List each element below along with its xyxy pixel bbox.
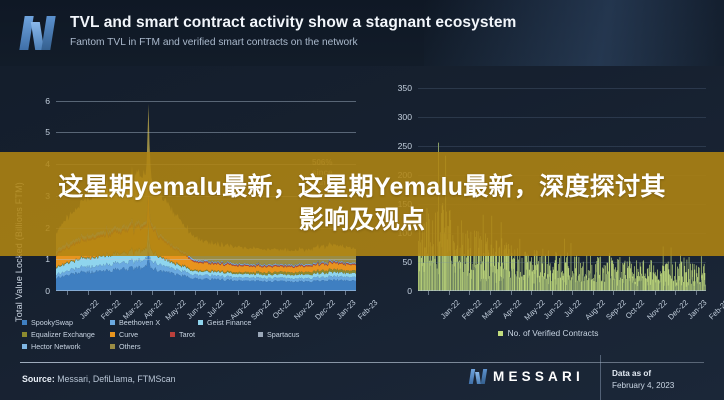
legend-item[interactable]: Hector Network (22, 342, 110, 351)
legend-item-label: No. of Verified Contracts (508, 328, 599, 338)
gridline (56, 132, 356, 133)
brand-wordmark: MESSARI (493, 369, 584, 384)
x-axis-tick-label: Mar-22 (480, 298, 503, 321)
legend-swatch (258, 332, 263, 337)
legend-swatch (22, 344, 27, 349)
x-axis-left (56, 290, 356, 291)
infographic-root: TVL and smart contract activity show a s… (0, 0, 724, 400)
legend-swatch (498, 331, 503, 336)
x-axis-tick-mark (281, 291, 282, 295)
legend-item[interactable]: Others (110, 342, 198, 351)
x-axis-tick-mark (110, 291, 111, 295)
y-axis-tick-label: 6 (45, 96, 50, 106)
legend-item[interactable]: Curve (110, 330, 170, 339)
x-axis-tick-mark (88, 291, 89, 295)
x-axis-right (418, 290, 706, 291)
page-title: TVL and smart contract activity show a s… (70, 14, 516, 32)
x-axis-tick-label: Jun-22 (542, 298, 565, 321)
data-as-of-value: February 4, 2023 (612, 380, 674, 392)
y-axis-tick-label: 5 (45, 127, 50, 137)
x-axis-tick-mark (531, 291, 532, 295)
x-axis-tick-mark (174, 291, 175, 295)
legend-item[interactable]: Tarot (170, 330, 258, 339)
x-axis-tick-label: May-22 (522, 298, 546, 322)
legend-swatch (170, 332, 175, 337)
y-axis-tick-label: 50 (402, 257, 412, 267)
x-axis-tick-mark (511, 291, 512, 295)
page-subtitle: Fantom TVL in FTM and verified smart con… (70, 37, 516, 48)
legend-swatch (22, 320, 27, 325)
y-axis-tick-label: 0 (407, 286, 412, 296)
x-axis-tick-label: Jan-23 (686, 298, 709, 321)
legend-left: SpookySwapBeethoven XGeist FinanceEquali… (22, 318, 362, 351)
messari-logo-icon (470, 369, 486, 384)
x-axis-tick-mark (613, 291, 614, 295)
chart-header: TVL and smart contract activity show a s… (0, 0, 724, 66)
x-axis-tick-label: Apr-22 (501, 298, 523, 320)
y-axis-tick-label: 300 (398, 112, 412, 122)
x-axis-tick-mark (302, 291, 303, 295)
legend-item[interactable]: Beethoven X (110, 318, 198, 327)
source-note: Source: Messari, DefiLlama, FTMScan (22, 374, 176, 384)
x-axis-tick-label: Sep-22 (604, 298, 628, 322)
gridline (418, 262, 706, 263)
legend-item-label: Others (119, 342, 141, 351)
x-axis-tick-mark (552, 291, 553, 295)
gridline (56, 101, 356, 102)
legend-swatch (198, 320, 203, 325)
source-label: Source: (22, 374, 55, 384)
x-axis-tick-label: Oct-22 (624, 298, 646, 320)
legend-item[interactable]: SpookySwap (22, 318, 110, 327)
x-axis-tick-label: Aug-22 (583, 298, 607, 322)
title-block: TVL and smart contract activity show a s… (70, 14, 516, 48)
gridline (56, 259, 356, 260)
data-as-of-label: Data as of (612, 368, 674, 380)
legend-item[interactable]: Spartacus (258, 330, 346, 339)
gridline (418, 117, 706, 118)
gridline (418, 146, 706, 147)
y-axis-tick-label: 250 (398, 141, 412, 151)
x-axis-tick-label: Jul-22 (205, 298, 226, 319)
x-axis-tick-mark (593, 291, 594, 295)
source-value: Messari, DefiLlama, FTMScan (55, 374, 176, 384)
legend-swatch (110, 344, 115, 349)
x-axis-tick-mark (217, 291, 218, 295)
x-axis-tick-mark (655, 291, 656, 295)
x-axis-tick-mark (572, 291, 573, 295)
y-axis-tick-label: 0 (45, 286, 50, 296)
legend-item-label: SpookySwap (31, 318, 73, 327)
legend-item[interactable]: Geist Finance (198, 318, 286, 327)
legend-item-label: Hector Network (31, 342, 81, 351)
legend-item[interactable]: Equalizer Exchange (22, 330, 110, 339)
messari-logo-icon (22, 16, 53, 50)
x-axis-tick-mark (469, 291, 470, 295)
x-axis-tick-mark (449, 291, 450, 295)
y-axis-tick-label: 350 (398, 83, 412, 93)
gridline (418, 88, 706, 89)
x-axis-tick-label: Dec-22 (666, 298, 690, 322)
legend-item-label: Tarot (179, 330, 195, 339)
x-axis-tick-mark (260, 291, 261, 295)
x-axis-tick-mark (238, 291, 239, 295)
legend-item-label: Beethoven X (119, 318, 160, 327)
x-axis-tick-mark (634, 291, 635, 295)
x-axis-tick-mark (345, 291, 346, 295)
x-axis-tick-mark (152, 291, 153, 295)
x-axis-tick-mark (324, 291, 325, 295)
x-axis-tick-mark (195, 291, 196, 295)
legend-item-label: Geist Finance (207, 318, 251, 327)
footer-vertical-divider (600, 355, 601, 400)
footer-brand: MESSARI (470, 369, 584, 384)
x-axis-tick-label: Jul-22 (562, 298, 583, 319)
x-axis-tick-label: Feb-22 (460, 298, 483, 321)
legend-right: No. of Verified Contracts (372, 328, 724, 338)
x-axis-tick-mark (67, 291, 68, 295)
x-axis-tick-mark (490, 291, 491, 295)
x-axis-tick-mark (696, 291, 697, 295)
x-axis-tick-mark (428, 291, 429, 295)
legend-item-label: Equalizer Exchange (31, 330, 95, 339)
x-axis-tick-label: Feb-23 (707, 298, 724, 321)
x-axis-tick-mark (675, 291, 676, 295)
overlay-banner-text: 这星期yemalu最新，这星期Yemalu最新，深度探讨其影响及观点 (0, 152, 724, 256)
legend-swatch (110, 332, 115, 337)
legend-swatch (110, 320, 115, 325)
x-axis-tick-label: Nov-22 (645, 298, 669, 322)
legend-item-label: Spartacus (267, 330, 299, 339)
legend-swatch (22, 332, 27, 337)
x-axis-tick-label: Jan-22 (439, 298, 462, 321)
legend-item-label: Curve (119, 330, 138, 339)
x-axis-tick-mark (131, 291, 132, 295)
footer-divider-line (20, 362, 704, 363)
data-as-of: Data as of February 4, 2023 (612, 368, 674, 392)
